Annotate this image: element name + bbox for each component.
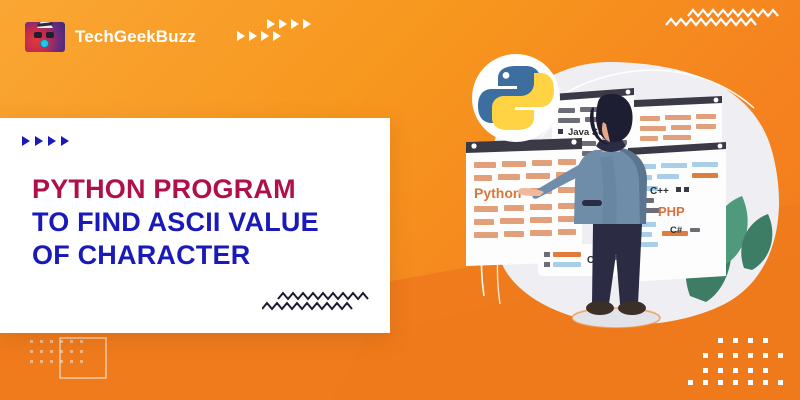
- chevron-right-icon: [267, 19, 275, 29]
- person-shoe-left: [586, 301, 614, 315]
- board-label-csharp-right: C#: [670, 225, 683, 236]
- person-shoe-right: [618, 301, 646, 315]
- chevron-right-icon: [48, 136, 56, 146]
- board-label-python: Python: [474, 185, 521, 201]
- person-hair: [596, 94, 633, 142]
- page-title: PYTHON PROGRAM TO FIND ASCII VALUE OF CH…: [32, 173, 376, 272]
- chevron-group-top-2: [237, 31, 281, 41]
- bullet-icon: [544, 252, 550, 257]
- board-label-cpp: C++: [650, 186, 669, 197]
- techgeekbuzz-badge-icon: [25, 22, 65, 52]
- chevron-group-card: [22, 136, 69, 146]
- chevron-right-icon: [22, 136, 30, 146]
- bullet-icon: [676, 187, 681, 192]
- python-logo: [472, 54, 560, 142]
- bullet-icon: [684, 187, 689, 192]
- zigzag-decoration-top-right: [656, 6, 786, 32]
- page-title-line-1: PYTHON PROGRAM: [32, 173, 376, 206]
- chevron-group-top-1: [267, 19, 311, 29]
- chevron-right-icon: [35, 136, 43, 146]
- zigzag-decoration-card: [262, 289, 372, 315]
- hero-illustration: Java Script C++: [454, 46, 800, 346]
- chevron-right-icon: [249, 31, 257, 41]
- brand-logo[interactable]: TechGeekBuzz: [25, 22, 196, 52]
- bullet-icon: [558, 129, 563, 134]
- chevron-right-icon: [291, 19, 299, 29]
- chevron-right-icon: [261, 31, 269, 41]
- chevron-right-icon: [61, 136, 69, 146]
- bullet-icon: [544, 262, 550, 267]
- page-title-line-3: OF CHARACTER: [32, 239, 376, 272]
- board-label-php: PHP: [658, 204, 685, 219]
- jacket-pocket: [582, 200, 602, 206]
- page-title-line-2: TO FIND ASCII VALUE: [32, 206, 376, 239]
- chevron-right-icon: [279, 19, 287, 29]
- brand-name: TechGeekBuzz: [75, 27, 196, 47]
- chevron-right-icon: [303, 19, 311, 29]
- chevron-right-icon: [237, 31, 245, 41]
- chevron-right-icon: [273, 31, 281, 41]
